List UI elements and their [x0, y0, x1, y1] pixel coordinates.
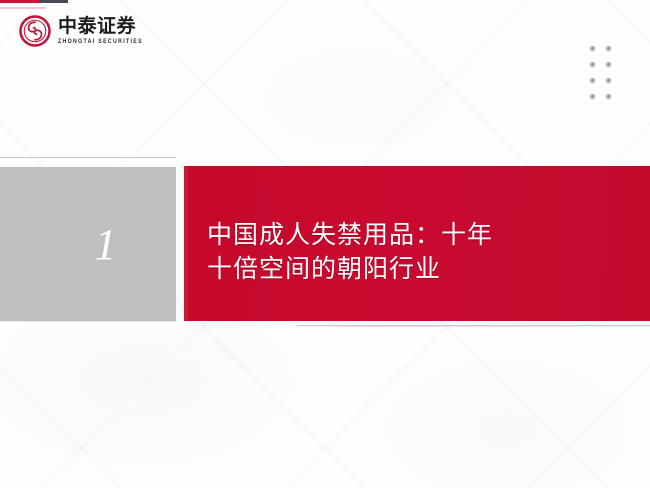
- brand-name-cn: 中泰证券: [58, 17, 143, 36]
- section-number-block: 1: [0, 167, 176, 321]
- grid-dot: [605, 77, 612, 84]
- zhongtai-circular-logo-icon: [19, 15, 51, 47]
- section-title-line-2: 十倍空间的朝阳行业: [207, 252, 617, 286]
- grid-dot: [589, 45, 596, 52]
- grid-dot: [589, 61, 596, 68]
- section-title-line-1: 中国成人失禁用品：十年: [207, 218, 617, 252]
- brand-logo: 中泰证券 ZHONGTAI SECURITIES: [19, 15, 143, 47]
- grid-dot: [605, 61, 612, 68]
- brand-logo-text: 中泰证券 ZHONGTAI SECURITIES: [58, 17, 143, 44]
- corner-accent-pale-bar: [0, 7, 46, 9]
- corner-accent-red-bar: [0, 0, 40, 3]
- grid-dot: [589, 93, 596, 100]
- divider-above-number-block: [0, 157, 176, 158]
- corner-accent-dark-bar: [40, 0, 68, 3]
- section-number: 1: [0, 167, 176, 321]
- decorative-dot-grid: [589, 45, 612, 100]
- grid-dot: [605, 45, 612, 52]
- brand-name-en: ZHONGTAI SECURITIES: [58, 39, 143, 46]
- section-title-banner: 中国成人失禁用品：十年 十倍空间的朝阳行业: [184, 166, 650, 321]
- grid-dot: [605, 93, 612, 100]
- divider-below-banner-shadow: [297, 326, 650, 327]
- section-title: 中国成人失禁用品：十年 十倍空间的朝阳行业: [207, 218, 617, 286]
- slide-canvas: 中泰证券 ZHONGTAI SECURITIES 1 中国成人失禁用品：十年 十…: [0, 0, 650, 488]
- grid-dot: [589, 77, 596, 84]
